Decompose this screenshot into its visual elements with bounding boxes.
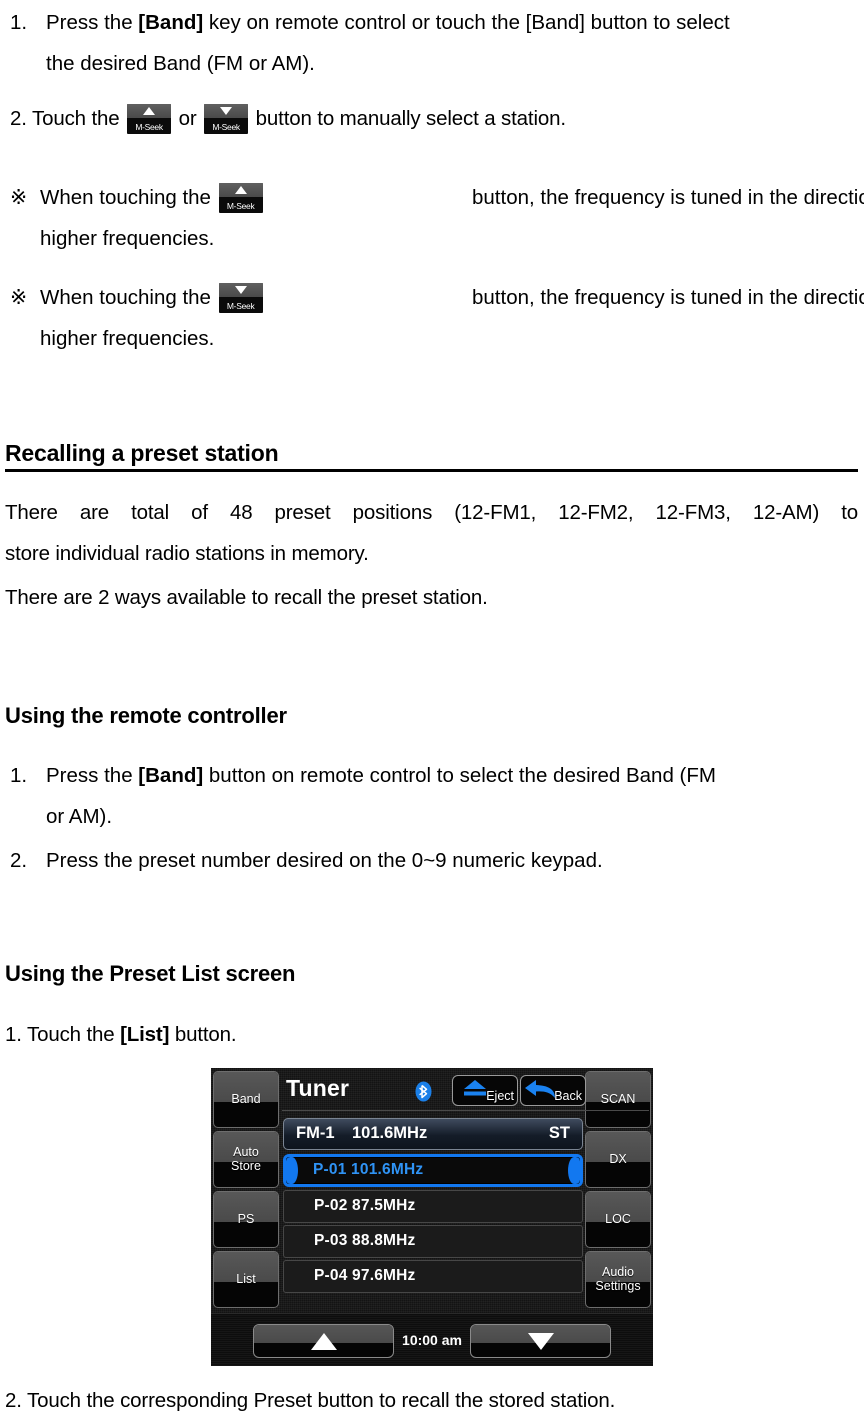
page-title: Tuner bbox=[286, 1075, 349, 1102]
head-unit-screenshot: Band Auto Store PS List bbox=[211, 1068, 653, 1366]
note1-post: button, the frequency is tuned in the di… bbox=[472, 186, 864, 209]
now-playing-frequency: 101.6MHz bbox=[352, 1124, 427, 1143]
preset-row-label: P-04 97.6MHz bbox=[314, 1267, 415, 1285]
band-button[interactable]: Band bbox=[213, 1071, 279, 1128]
loc-button[interactable]: LOC bbox=[585, 1191, 651, 1248]
page-up-arrow bbox=[311, 1333, 337, 1350]
bottom-bar: 10:00 am bbox=[211, 1313, 653, 1366]
list-button-label: List bbox=[214, 1252, 278, 1307]
step2-pre: Touch the bbox=[32, 107, 120, 130]
page-up-button[interactable] bbox=[253, 1324, 394, 1358]
page-down-arrow bbox=[528, 1333, 554, 1350]
step2-post: button to manually select a station. bbox=[256, 107, 566, 130]
remote-step1-part-a: Press the bbox=[46, 764, 138, 787]
manual-page: 1. Press the [Band] key on remote contro… bbox=[0, 0, 864, 1418]
clock: 10:00 am bbox=[398, 1332, 466, 1348]
preset-row[interactable]: P-04 97.6MHz bbox=[283, 1260, 583, 1293]
dx-button[interactable]: DX bbox=[585, 1131, 651, 1188]
tuning-note-2-body: When touching the M-Seek button, the fre… bbox=[40, 277, 864, 359]
preset-step1-part-a: Touch the bbox=[27, 1023, 120, 1046]
remote-step-2-body: Press the preset number desired on the 0… bbox=[46, 840, 858, 881]
step1-line2: the desired Band (FM or AM). bbox=[46, 43, 858, 84]
back-button-label: Back bbox=[521, 1090, 585, 1103]
stereo-indicator: ST bbox=[549, 1124, 570, 1143]
list-marker: 2. bbox=[10, 840, 46, 881]
note-marker: ※ bbox=[10, 277, 40, 359]
remote-step-1: 1. Press the [Band] button on remote con… bbox=[10, 755, 858, 837]
remote-step1-part-c: button on remote control to select the d… bbox=[203, 764, 716, 787]
selection-cap-right bbox=[568, 1157, 580, 1184]
remote-step1-band-keyword: [Band] bbox=[138, 764, 203, 787]
note1-pre: When touching the bbox=[40, 186, 211, 209]
now-playing-bar: FM-1 101.6MHz ST bbox=[283, 1118, 583, 1150]
loc-button-label: LOC bbox=[586, 1192, 650, 1247]
dx-button-label: DX bbox=[586, 1132, 650, 1187]
eject-button[interactable]: Eject bbox=[452, 1075, 518, 1106]
tuning-step-2: 2. Touch the M-Seek or M-Seek button to … bbox=[10, 98, 858, 139]
preset-row-label: P-01 101.6MHz bbox=[313, 1161, 423, 1179]
bluetooth-icon bbox=[415, 1081, 432, 1102]
step1-band-keyword: [Band] bbox=[138, 11, 203, 34]
back-button[interactable]: Back bbox=[520, 1075, 586, 1106]
step1-part-a: Press the bbox=[46, 11, 138, 34]
recall-p1-line2: store individual radio stations in memor… bbox=[5, 533, 858, 574]
selection-cap-left bbox=[286, 1157, 298, 1184]
note1-line2: higher frequencies. bbox=[40, 218, 864, 259]
page-title-preset-list: Using the Preset List screen bbox=[5, 961, 295, 987]
title-divider bbox=[282, 1110, 649, 1111]
recall-paragraph-1: There are total of 48 preset positions (… bbox=[5, 492, 858, 574]
scan-button[interactable]: SCAN bbox=[585, 1071, 651, 1128]
audio-settings-button[interactable]: Audio Settings bbox=[585, 1251, 651, 1308]
ps-button[interactable]: PS bbox=[213, 1191, 279, 1248]
step1-part-c: key on remote control or touch the [Band… bbox=[203, 11, 729, 34]
recall-p1-line1: There are total of 48 preset positions (… bbox=[5, 492, 858, 533]
m-seek-up-icon: M-Seek bbox=[127, 104, 171, 134]
step2-marker: 2. bbox=[10, 107, 27, 130]
preset-row-label: P-02 87.5MHz bbox=[314, 1197, 415, 1215]
tuning-note-2: ※ When touching the M-Seek button, the f… bbox=[10, 277, 860, 359]
preset-list-step-1: 1. Touch the [List] button. bbox=[5, 1014, 236, 1055]
ps-button-label: PS bbox=[214, 1192, 278, 1247]
tuning-note-1-body: When touching the M-Seek button, the fre… bbox=[40, 177, 864, 259]
note2-line2: higher frequencies. bbox=[40, 318, 864, 359]
remote-step1-line2: or AM). bbox=[46, 796, 858, 837]
list-marker: 1. bbox=[10, 755, 46, 837]
preset-step1-part-c: button. bbox=[169, 1023, 236, 1046]
auto-store-button[interactable]: Auto Store bbox=[213, 1131, 279, 1188]
remote-step-1-body: Press the [Band] button on remote contro… bbox=[46, 755, 858, 837]
preset-row[interactable]: P-03 88.8MHz bbox=[283, 1225, 583, 1258]
step2-mid: or bbox=[179, 107, 197, 130]
page-title-remote-controller: Using the remote controller bbox=[5, 703, 287, 729]
eject-button-label: Eject bbox=[453, 1090, 517, 1103]
audio-settings-button-label: Audio Settings bbox=[595, 1266, 640, 1293]
preset-row-label: P-03 88.8MHz bbox=[314, 1232, 415, 1250]
list-marker: 1. bbox=[10, 2, 46, 84]
preset-step1-list-keyword: [List] bbox=[120, 1023, 169, 1046]
preset-row[interactable]: P-02 87.5MHz bbox=[283, 1190, 583, 1223]
note-marker: ※ bbox=[10, 177, 40, 259]
preset-row-selected[interactable]: P-01 101.6MHz bbox=[283, 1154, 583, 1187]
auto-store-button-label: Auto Store bbox=[231, 1146, 261, 1173]
tuning-step-1-body: Press the [Band] key on remote control o… bbox=[46, 2, 858, 84]
recall-paragraph-2: There are 2 ways available to recall the… bbox=[5, 577, 858, 618]
m-seek-down-icon: M-Seek bbox=[204, 104, 248, 134]
page-down-button[interactable] bbox=[470, 1324, 611, 1358]
preset-list-step-2: 2. Touch the corresponding Preset button… bbox=[5, 1380, 615, 1421]
m-seek-up-icon: M-Seek bbox=[219, 183, 263, 213]
page-title-recalling: Recalling a preset station bbox=[5, 440, 858, 472]
note2-pre: When touching the bbox=[40, 286, 211, 309]
tuning-note-1: ※ When touching the M-Seek button, the f… bbox=[10, 177, 860, 259]
preset-step1-marker: 1. bbox=[5, 1023, 22, 1046]
now-playing-band: FM-1 bbox=[296, 1124, 335, 1143]
list-button[interactable]: List bbox=[213, 1251, 279, 1308]
band-button-label: Band bbox=[214, 1072, 278, 1127]
scan-button-label: SCAN bbox=[586, 1072, 650, 1127]
m-seek-down-icon: M-Seek bbox=[219, 283, 263, 313]
remote-step-2: 2. Press the preset number desired on th… bbox=[10, 840, 858, 881]
tuning-step-1: 1. Press the [Band] key on remote contro… bbox=[10, 2, 858, 84]
note2-post: button, the frequency is tuned in the di… bbox=[472, 286, 864, 309]
